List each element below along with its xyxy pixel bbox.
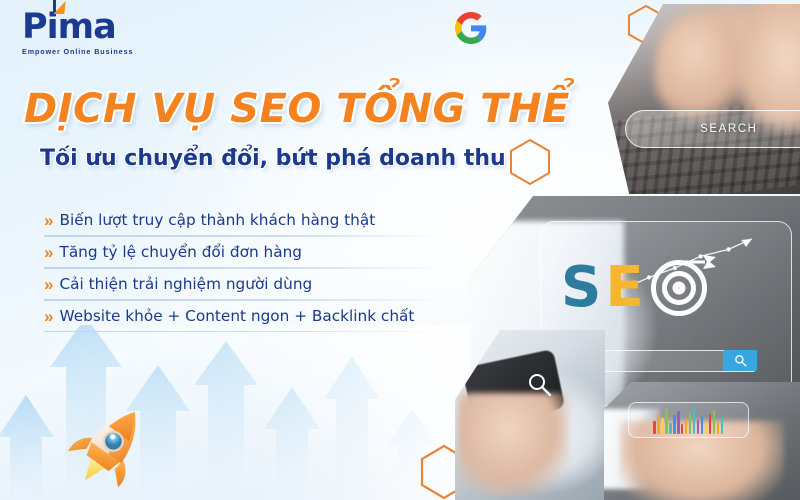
seo-letter-e: E xyxy=(605,264,643,312)
bar-chart-bar xyxy=(689,413,691,434)
list-item: » Tăng tỷ lệ chuyển đổi đơn hàng xyxy=(44,236,444,268)
dart-icon xyxy=(683,254,717,270)
chevron-right-icon: » xyxy=(44,244,50,261)
benefit-text: Website khỏe + Content ngon + Backlink c… xyxy=(59,307,414,325)
bar-chart-bar xyxy=(701,416,703,434)
logo-text: Pima xyxy=(22,7,116,47)
seo-search-input[interactable] xyxy=(601,350,756,372)
bar-chart-bar xyxy=(661,418,663,435)
bar-chart-bar xyxy=(685,419,687,434)
bar-chart-bar xyxy=(705,423,707,434)
google-g-icon xyxy=(455,12,487,44)
logo-flag-icon xyxy=(53,1,65,14)
benefit-text: Cải thiện trải nghiệm người dùng xyxy=(59,275,312,293)
seo-service-banner: Pima Empower Online Business DỊCH VỤ SEO… xyxy=(0,0,800,500)
list-item: » Website khỏe + Content ngon + Backlink… xyxy=(44,300,444,332)
bar-chart-bar xyxy=(713,410,715,434)
bar-chart-bar xyxy=(717,422,719,435)
target-icon xyxy=(650,259,708,317)
search-bar-label: SEARCH xyxy=(700,123,758,135)
bar-chart-bar xyxy=(721,417,723,434)
chevron-right-icon: » xyxy=(44,212,50,229)
benefit-text: Biến lượt truy cập thành khách hàng thật xyxy=(59,211,375,229)
benefit-text: Tăng tỷ lệ chuyển đổi đơn hàng xyxy=(59,243,302,261)
open-hand-photo xyxy=(604,382,800,500)
search-bar-overlay[interactable]: SEARCH xyxy=(625,110,800,148)
bar-chart-bar xyxy=(653,421,655,434)
chevron-right-icon: » xyxy=(44,308,50,325)
seo-search-button[interactable] xyxy=(723,350,757,371)
bar-chart-bar xyxy=(657,414,659,435)
hexagon-decoration-mid xyxy=(508,138,552,186)
logo-tagline: Empower Online Business xyxy=(22,47,172,56)
magnifier-icon xyxy=(527,372,553,398)
magnifier-icon xyxy=(734,354,747,367)
list-item: » Biến lượt truy cập thành khách hàng th… xyxy=(44,205,444,236)
logo-wordmark: Pima xyxy=(22,10,172,45)
seo-wordmark: S E xyxy=(561,259,708,317)
bar-chart-bar xyxy=(665,409,667,434)
bar-chart-bar xyxy=(697,420,699,434)
brand-logo[interactable]: Pima Empower Online Business xyxy=(22,10,172,56)
bar-chart-bar xyxy=(693,408,695,434)
bar-chart-bar xyxy=(709,414,711,434)
seo-letter-s: S xyxy=(561,264,601,312)
page-subtitle: Tối ưu chuyển đổi, bứt phá doanh thu xyxy=(40,146,506,172)
rocket-icon xyxy=(59,395,161,497)
bar-chart-bar xyxy=(681,424,683,434)
bar-chart-overlay xyxy=(628,402,750,439)
page-title: DỊCH VỤ SEO TỔNG THỂ xyxy=(24,88,570,130)
bar-chart-bar xyxy=(677,411,679,434)
benefits-list: » Biến lượt truy cập thành khách hàng th… xyxy=(44,205,444,332)
holding-hand xyxy=(458,393,569,495)
bar-chart-bar xyxy=(669,423,671,434)
bar-chart-bar xyxy=(673,415,675,434)
list-item: » Cải thiện trải nghiệm người dùng xyxy=(44,268,444,300)
chevron-right-icon: » xyxy=(44,276,50,293)
